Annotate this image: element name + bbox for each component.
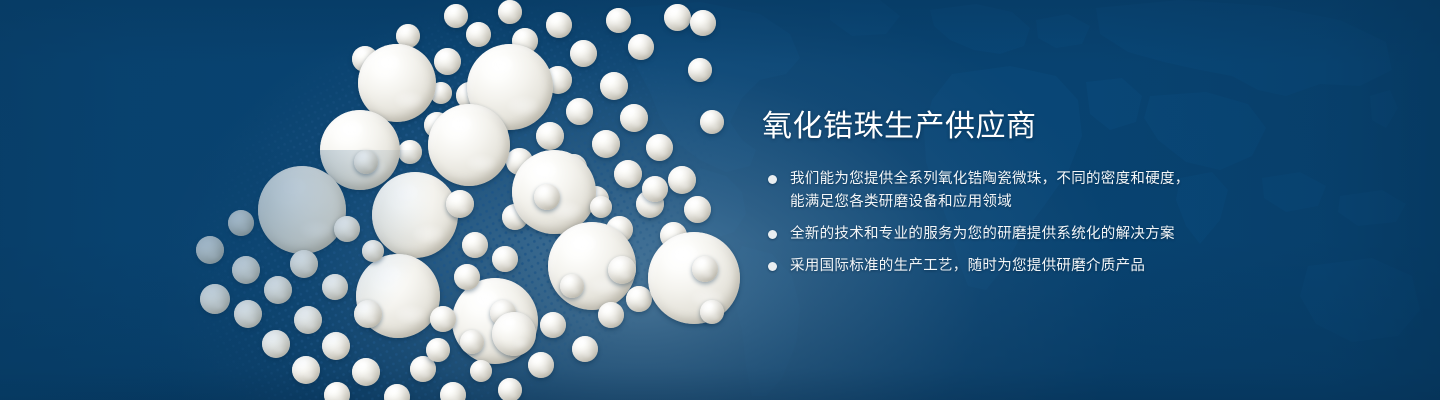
list-item: 采用国际标准的生产工艺，随时为您提供研磨介质产品 (762, 255, 1322, 278)
hero-banner: 氧化锆珠生产供应商 我们能为您提供全系列氧化锆陶瓷微珠，不同的密度和硬度， 能满… (0, 0, 1440, 400)
page-title: 氧化锆珠生产供应商 (762, 108, 1322, 146)
list-item-line-1: 采用国际标准的生产工艺，随时为您提供研磨介质产品 (790, 258, 1145, 274)
list-item-line-2: 能满足您各类研磨设备和应用领域 (790, 191, 1322, 214)
list-item: 全新的技术和专业的服务为您的研磨提供系统化的解决方案 (762, 223, 1322, 246)
list-item: 我们能为您提供全系列氧化锆陶瓷微珠，不同的密度和硬度， 能满足您各类研磨设备和应… (762, 168, 1322, 214)
bullet-dot-icon (768, 230, 777, 239)
list-item-text: 我们能为您提供全系列氧化锆陶瓷微珠，不同的密度和硬度， 能满足您各类研磨设备和应… (790, 168, 1322, 214)
bullet-dot-icon (768, 262, 777, 271)
feature-list: 我们能为您提供全系列氧化锆陶瓷微珠，不同的密度和硬度， 能满足您各类研磨设备和应… (762, 168, 1322, 278)
bullet-dot-icon (768, 175, 777, 184)
list-item-text: 全新的技术和专业的服务为您的研磨提供系统化的解决方案 (790, 223, 1322, 246)
list-item-text: 采用国际标准的生产工艺，随时为您提供研磨介质产品 (790, 255, 1322, 278)
list-item-line-1: 全新的技术和专业的服务为您的研磨提供系统化的解决方案 (790, 226, 1175, 242)
banner-content: 氧化锆珠生产供应商 我们能为您提供全系列氧化锆陶瓷微珠，不同的密度和硬度， 能满… (762, 108, 1322, 278)
list-item-line-1: 我们能为您提供全系列氧化锆陶瓷微珠，不同的密度和硬度， (790, 171, 1190, 187)
